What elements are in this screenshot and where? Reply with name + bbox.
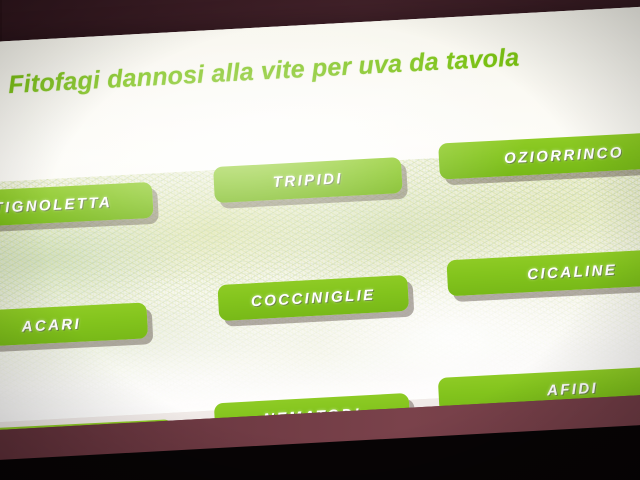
- presentation-slide: Fitofagi dannosi alla vite per uva da ta…: [0, 4, 640, 448]
- pest-label-text: ACARI: [21, 315, 81, 335]
- pest-label-text: TRIPIDI: [272, 170, 343, 191]
- pest-label-text: AFIDI: [547, 379, 599, 399]
- pest-label-text: TIGNOLETTA: [0, 193, 113, 216]
- pest-label-text: CICALINE: [527, 261, 618, 283]
- pest-label-text: OZIORRINCO: [504, 144, 625, 167]
- slide-title: Fitofagi dannosi alla vite per uva da ta…: [8, 43, 521, 100]
- pest-label-text: COCCINIGLIE: [251, 286, 376, 310]
- projection-scene: Fitofagi dannosi alla vite per uva da ta…: [0, 0, 640, 480]
